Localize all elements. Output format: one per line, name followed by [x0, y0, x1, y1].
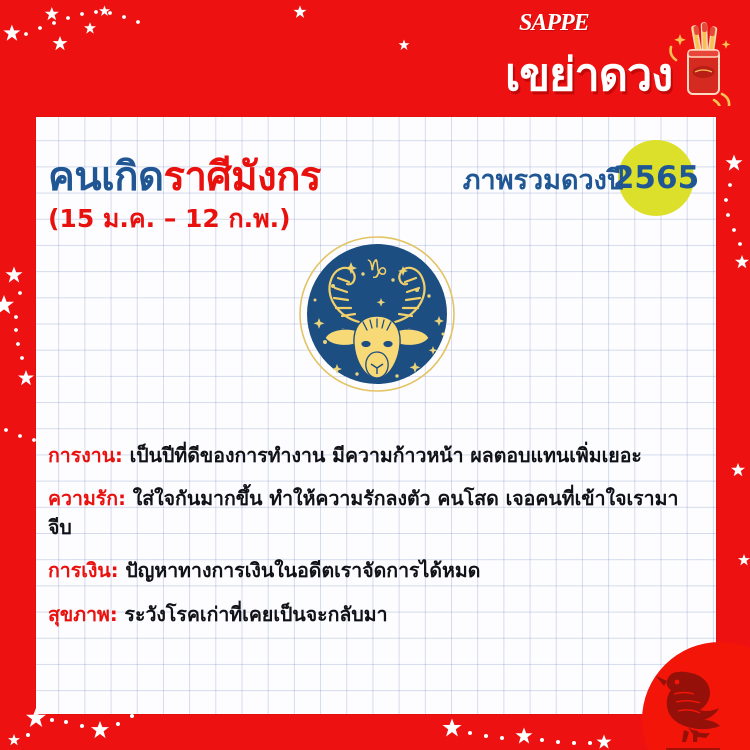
svg-text:♑: ♑ — [365, 255, 388, 285]
year-badge-value: 2565 — [613, 160, 699, 196]
section-love-text: ใส่ใจกันมากขึ้น ทำให้ความรักลงตัว คนโสด … — [48, 487, 678, 538]
section-work-label: การงาน: — [48, 444, 123, 467]
sappe-logo-text: SAPPE — [519, 10, 589, 36]
overview-label: ภาพรวมดวงปี — [463, 158, 624, 201]
date-range: (15 ม.ค. – 12 ก.พ.) — [48, 199, 291, 239]
year-overview: ภาพรวมดวงปี 2565 — [463, 142, 694, 216]
horoscope-card: คนเกิดราศีมังกร (15 ม.ค. – 12 ก.พ.) ภาพร… — [36, 117, 716, 714]
section-health-label: สุขภาพ: — [48, 603, 118, 626]
title-zodiac-sign: ราศีมังกร — [163, 154, 320, 200]
header-brand-area: SAPPE เขย่าดวง — [497, 4, 742, 109]
section-love-label: ความรัก: — [48, 487, 126, 510]
capricorn-zodiac-emblem: ♑ — [297, 234, 457, 394]
section-finance-label: การเงิน: — [48, 559, 119, 582]
section-health: สุขภาพ: ระวังโรคเก่าที่เคยเป็นจะกลับมา — [48, 601, 698, 629]
campaign-title: เขย่าดวง — [505, 38, 672, 110]
section-work: การงาน: เป็นปีที่ดีของการทำงาน มีความก้า… — [48, 442, 698, 470]
section-work-text: เป็นปีที่ดีของการทำงาน มีความก้าวหน้า ผล… — [130, 444, 642, 467]
fortune-stick-shaker-can-icon — [664, 20, 738, 106]
section-health-text: ระวังโรคเก่าที่เคยเป็นจะกลับมา — [125, 603, 388, 626]
year-badge: 2565 — [618, 140, 694, 216]
horoscope-sections: การงาน: เป็นปีที่ดีของการทำงาน มีความก้า… — [48, 442, 698, 644]
section-finance-text: ปัญหาทางการเงินในอดีตเราจัดการได้หมด — [125, 559, 480, 582]
section-finance: การเงิน: ปัญหาทางการเงินในอดีตเราจัดการไ… — [48, 557, 698, 585]
title-prefix: คนเกิด — [48, 154, 163, 200]
section-love: ความรัก: ใส่ใจกันมากขึ้น ทำให้ความรักลงต… — [48, 485, 698, 542]
